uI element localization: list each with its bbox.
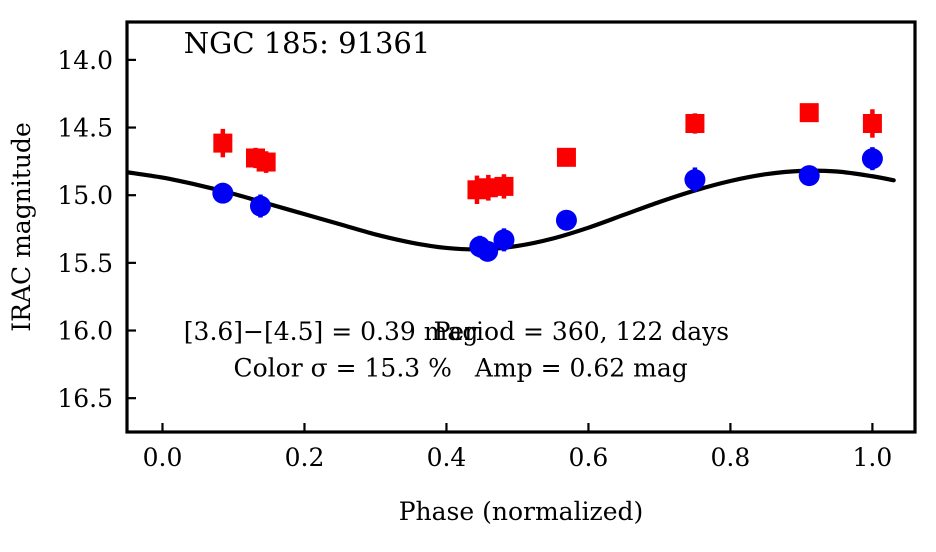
data-point-circle: [493, 229, 514, 250]
annotation-color-sigma: Color σ = 15.3 %: [233, 354, 451, 383]
data-point-square: [685, 114, 704, 133]
data-point-circle: [684, 169, 705, 190]
x-tick-label-3: 0.6: [569, 443, 609, 472]
annotation-period: Period = 360, 122 days: [434, 317, 729, 346]
light-curve-plot: 0.00.20.40.60.81.014.014.515.015.516.016…: [0, 0, 936, 552]
y-tick-label-2: 15.0: [57, 181, 113, 210]
data-point-circle: [250, 196, 271, 217]
y-tick-label-3: 15.5: [57, 249, 113, 278]
annotation-amplitude: Amp = 0.62 mag: [474, 354, 688, 383]
data-point-square: [494, 177, 513, 196]
data-point-square: [800, 103, 819, 122]
data-point-circle: [212, 183, 233, 204]
x-axis-title: Phase (normalized): [399, 497, 644, 526]
data-point-square: [557, 148, 576, 167]
annotation-plot-title: NGC 185: 91361: [184, 26, 431, 60]
data-point-square: [257, 153, 276, 172]
data-point-circle: [862, 148, 883, 169]
x-tick-label-0: 0.0: [143, 443, 183, 472]
x-tick-label-2: 0.4: [427, 443, 467, 472]
y-tick-label-0: 14.0: [57, 46, 113, 75]
figure-canvas: 0.00.20.40.60.81.014.014.515.015.516.016…: [0, 0, 936, 552]
data-point-square: [863, 114, 882, 133]
x-tick-label-5: 1.0: [853, 443, 893, 472]
data-point-circle: [556, 210, 577, 231]
y-tick-label-4: 16.0: [57, 317, 113, 346]
y-tick-label-5: 16.5: [57, 384, 113, 413]
data-point-circle: [799, 165, 820, 186]
data-point-square: [213, 134, 232, 153]
x-tick-label-1: 0.2: [285, 443, 325, 472]
plot-background: [0, 0, 936, 552]
x-tick-label-4: 0.8: [711, 443, 751, 472]
y-axis-title: IRAC magnitude: [7, 122, 36, 332]
y-tick-label-1: 14.5: [57, 114, 113, 143]
